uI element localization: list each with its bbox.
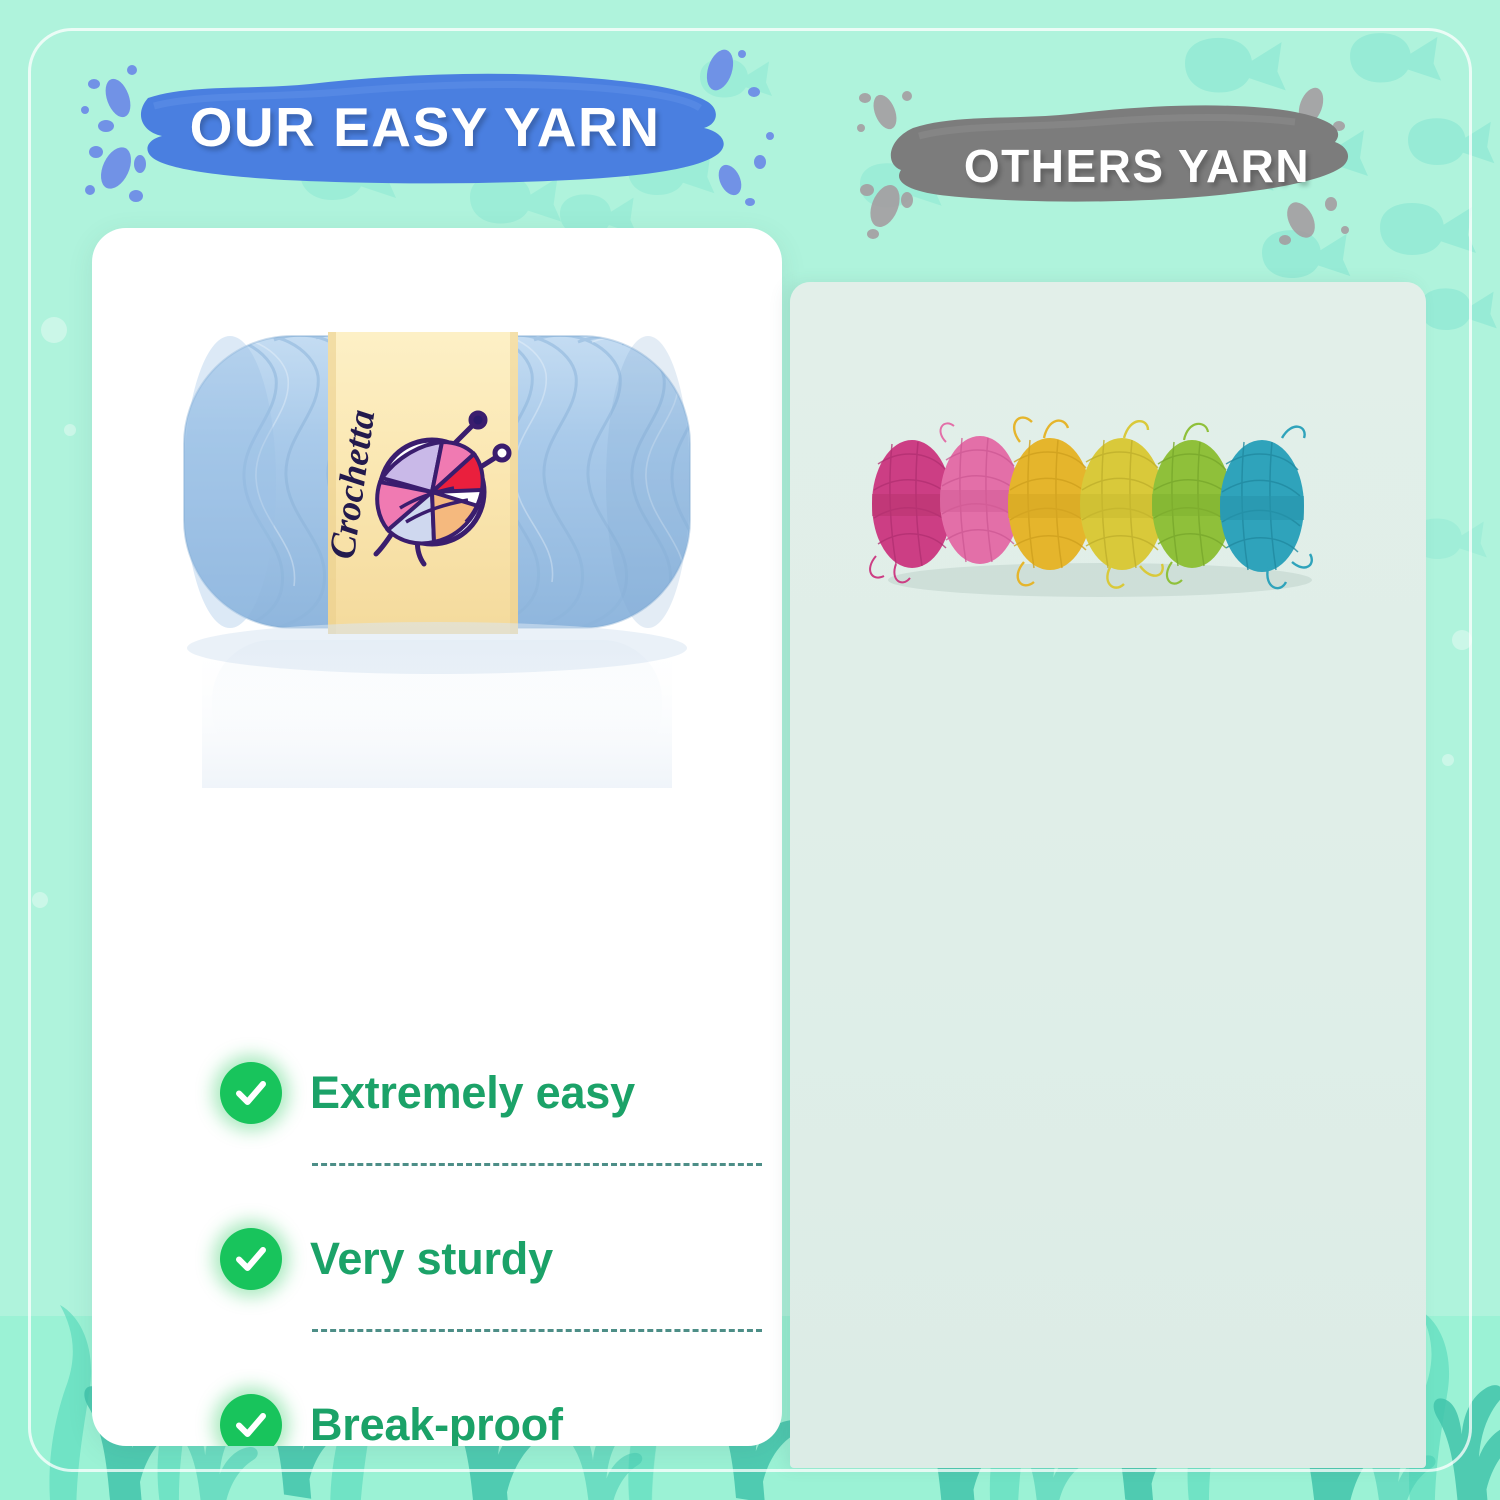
our-yarn-panel: Crochetta Extremely easy bbox=[92, 228, 782, 1446]
header-title-left: OUR EASY YARN bbox=[70, 40, 780, 220]
check-circle-icon bbox=[220, 1394, 282, 1446]
header-banner-others-yarn: OTHERS YARN bbox=[845, 78, 1500, 258]
product-image-our-yarn: Crochetta bbox=[92, 318, 782, 938]
feature-label: Very sturdy bbox=[310, 1235, 553, 1282]
check-circle-icon bbox=[220, 1228, 282, 1290]
feature-item-positive: Extremely easy bbox=[220, 1010, 782, 1176]
feature-item-positive: Break-proof bbox=[220, 1342, 782, 1446]
check-circle-icon bbox=[220, 1062, 282, 1124]
header-banner-our-yarn: OUR EASY YARN bbox=[70, 40, 780, 220]
others-yarn-panel: Difficult to handle Prone to breakage Pr… bbox=[790, 282, 1426, 1468]
product-label-band: Crochetta bbox=[322, 332, 518, 634]
feature-label: Extremely easy bbox=[310, 1069, 635, 1116]
product-image-others-yarn bbox=[850, 412, 1350, 632]
feature-item-positive: Very sturdy bbox=[220, 1176, 782, 1342]
feature-label: Break-proof bbox=[310, 1401, 563, 1446]
positive-feature-list: Extremely easy Very sturdy Break-proof bbox=[220, 1010, 782, 1446]
item-divider bbox=[312, 1329, 762, 1332]
item-divider bbox=[312, 1163, 762, 1166]
header-title-right: OTHERS YARN bbox=[845, 78, 1500, 258]
